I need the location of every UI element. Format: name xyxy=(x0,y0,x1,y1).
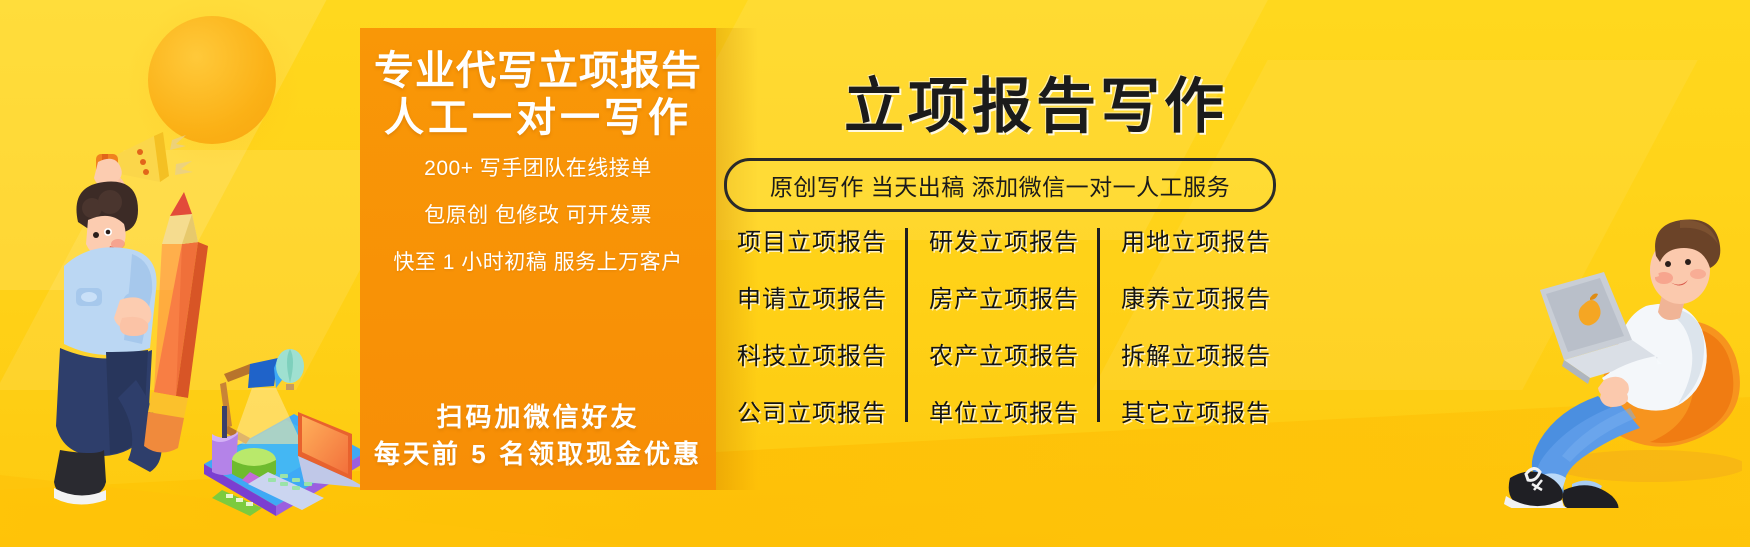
panel-footer: 扫码加微信好友 每天前 5 名领取现金优惠 xyxy=(360,399,716,474)
service-grid: 项目立项报告 申请立项报告 科技立项报告 公司立项报告 研发立项报告 房产立项报… xyxy=(716,222,1292,428)
service-item[interactable]: 农产立项报告 xyxy=(929,336,1079,371)
panel-subtitle-line3: 快至 1 小时初稿 服务上万客户 xyxy=(393,244,682,283)
service-column-3: 用地立项报告 康养立项报告 拆解立项报告 其它立项报告 xyxy=(1100,222,1292,428)
service-column-1: 项目立项报告 申请立项报告 科技立项报告 公司立项报告 xyxy=(716,222,908,428)
service-item[interactable]: 用地立项报告 xyxy=(1121,222,1271,257)
panel-subtitle-line1: 200+ 写手团队在线接单 xyxy=(424,150,652,189)
service-item[interactable]: 康养立项报告 xyxy=(1121,279,1271,314)
left-illustration xyxy=(36,96,366,516)
panel-subtitle-line2: 包原创 包修改 可开发票 xyxy=(424,197,652,236)
service-column-2: 研发立项报告 房产立项报告 农产立项报告 单位立项报告 xyxy=(908,222,1100,428)
service-item[interactable]: 公司立项报告 xyxy=(737,393,887,428)
panel-title-line2: 人工一对一写作 xyxy=(384,95,692,142)
right-illustration xyxy=(1480,208,1742,508)
panel-title-line1: 专业代写立项报告 xyxy=(374,48,702,95)
feature-pill[interactable]: 原创写作 当天出稿 添加微信一对一人工服务 xyxy=(724,158,1276,212)
orange-panel-content: 专业代写立项报告 人工一对一写作 200+ 写手团队在线接单 包原创 包修改 可… xyxy=(360,28,716,490)
service-item[interactable]: 申请立项报告 xyxy=(737,279,887,314)
service-item[interactable]: 科技立项报告 xyxy=(737,336,887,371)
service-item[interactable]: 研发立项报告 xyxy=(929,222,1079,257)
hot-air-balloon-icon xyxy=(276,349,304,390)
panel-footer-line2: 每天前 5 名领取现金优惠 xyxy=(360,436,716,474)
service-item[interactable]: 单位立项报告 xyxy=(929,393,1079,428)
service-item[interactable]: 其它立项报告 xyxy=(1121,393,1271,428)
promo-banner: 专业代写立项报告 人工一对一写作 200+ 写手团队在线接单 包原创 包修改 可… xyxy=(0,0,1750,547)
service-item[interactable]: 拆解立项报告 xyxy=(1121,336,1271,371)
service-item[interactable]: 房产立项报告 xyxy=(929,279,1079,314)
service-item[interactable]: 项目立项报告 xyxy=(737,222,887,257)
main-title: 立项报告写作 xyxy=(844,58,1228,145)
feature-pill-label: 原创写作 当天出稿 添加微信一对一人工服务 xyxy=(770,168,1230,202)
panel-footer-line1: 扫码加微信好友 xyxy=(360,399,716,437)
pencil-icon xyxy=(144,192,208,453)
